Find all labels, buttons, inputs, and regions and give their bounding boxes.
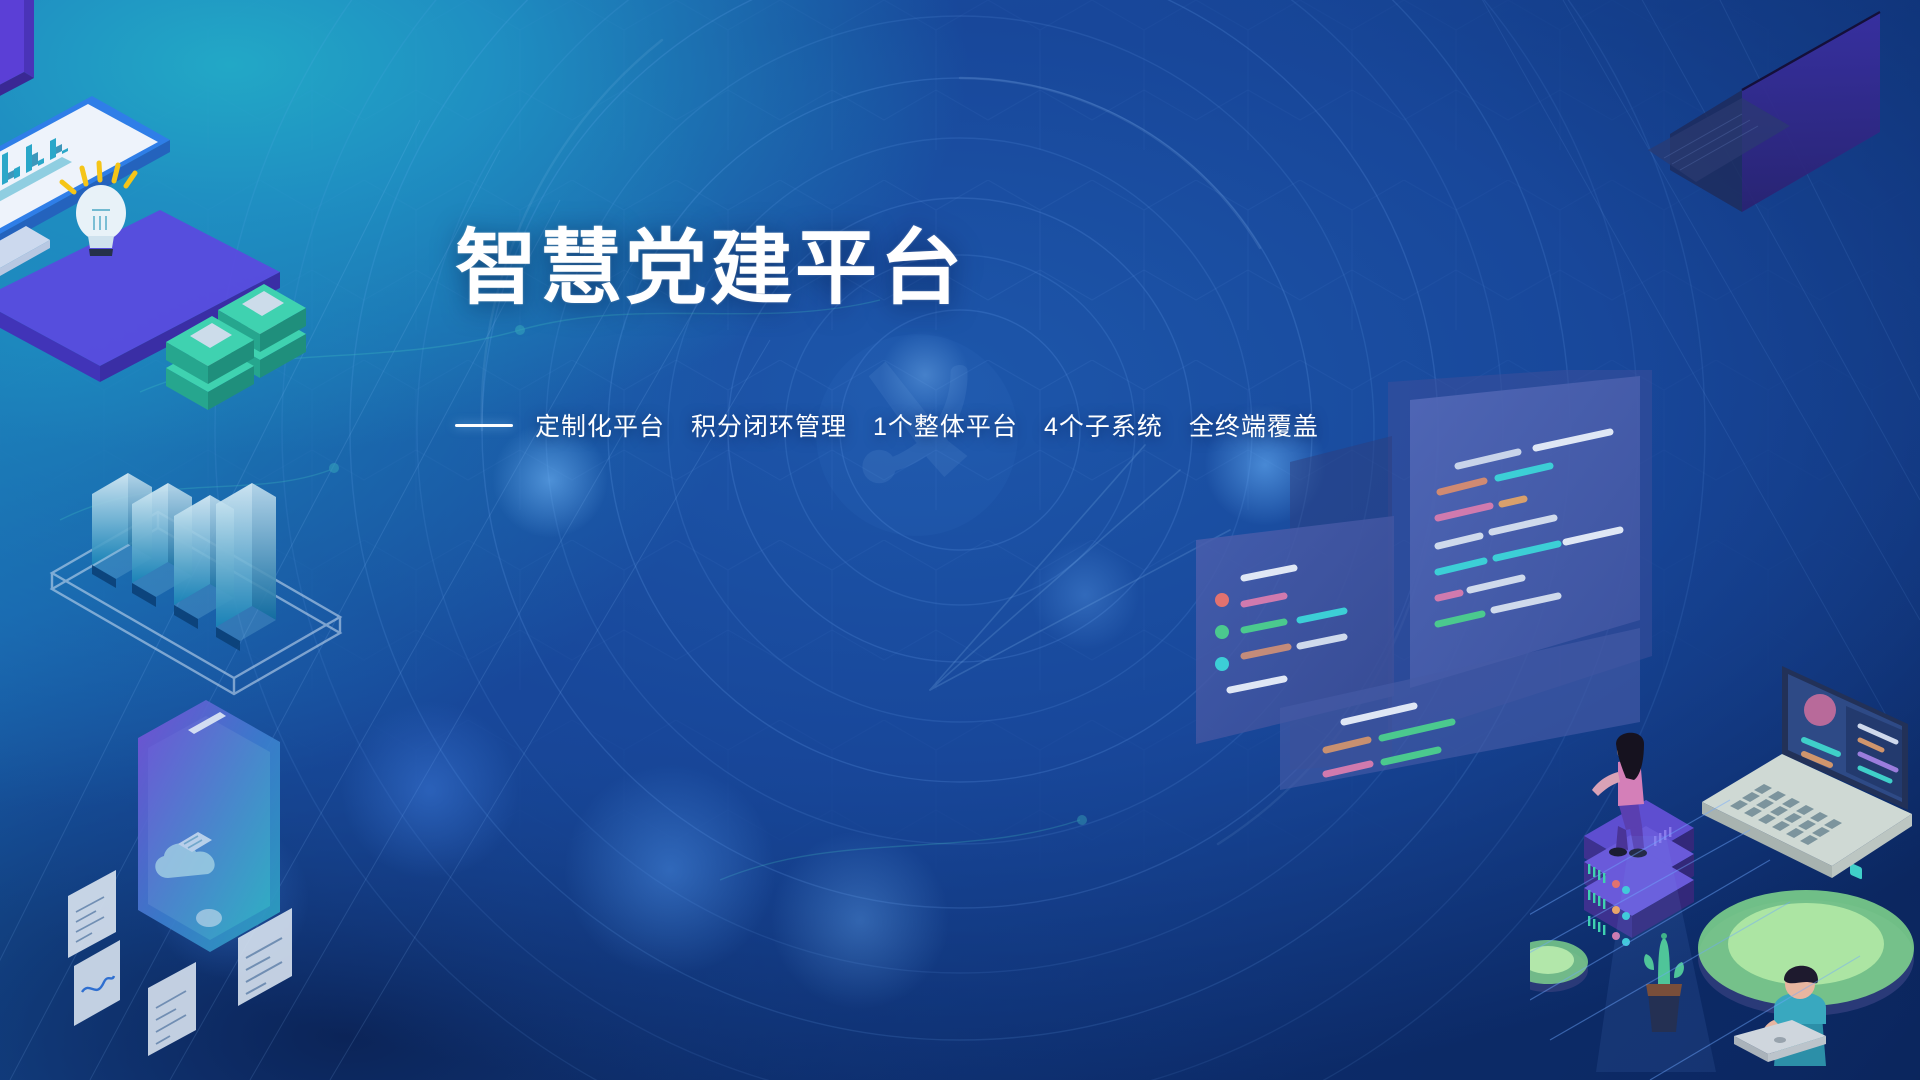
subtitle-item-4: 全终端覆盖 — [1189, 407, 1319, 443]
subtitle-item-1: 积分闭环管理 — [691, 407, 847, 443]
subtitle-item-2: 1个整体平台 — [873, 407, 1018, 443]
dash-rule — [455, 424, 513, 427]
page-title: 智慧党建平台 — [455, 228, 965, 310]
hero-banner: 智慧党建平台 定制化平台 积分闭环管理 1个整体平台 4个子系统 全终端覆盖 — [0, 0, 1920, 1080]
subtitle-item-3: 4个子系统 — [1044, 407, 1163, 443]
subtitle-item-0: 定制化平台 — [535, 407, 665, 443]
subtitle-items: 定制化平台 积分闭环管理 1个整体平台 4个子系统 全终端覆盖 — [535, 407, 1319, 443]
hero-subtitle-row: 定制化平台 积分闭环管理 1个整体平台 4个子系统 全终端覆盖 — [455, 407, 1319, 443]
diagonal-light-streaks — [0, 0, 1920, 1080]
